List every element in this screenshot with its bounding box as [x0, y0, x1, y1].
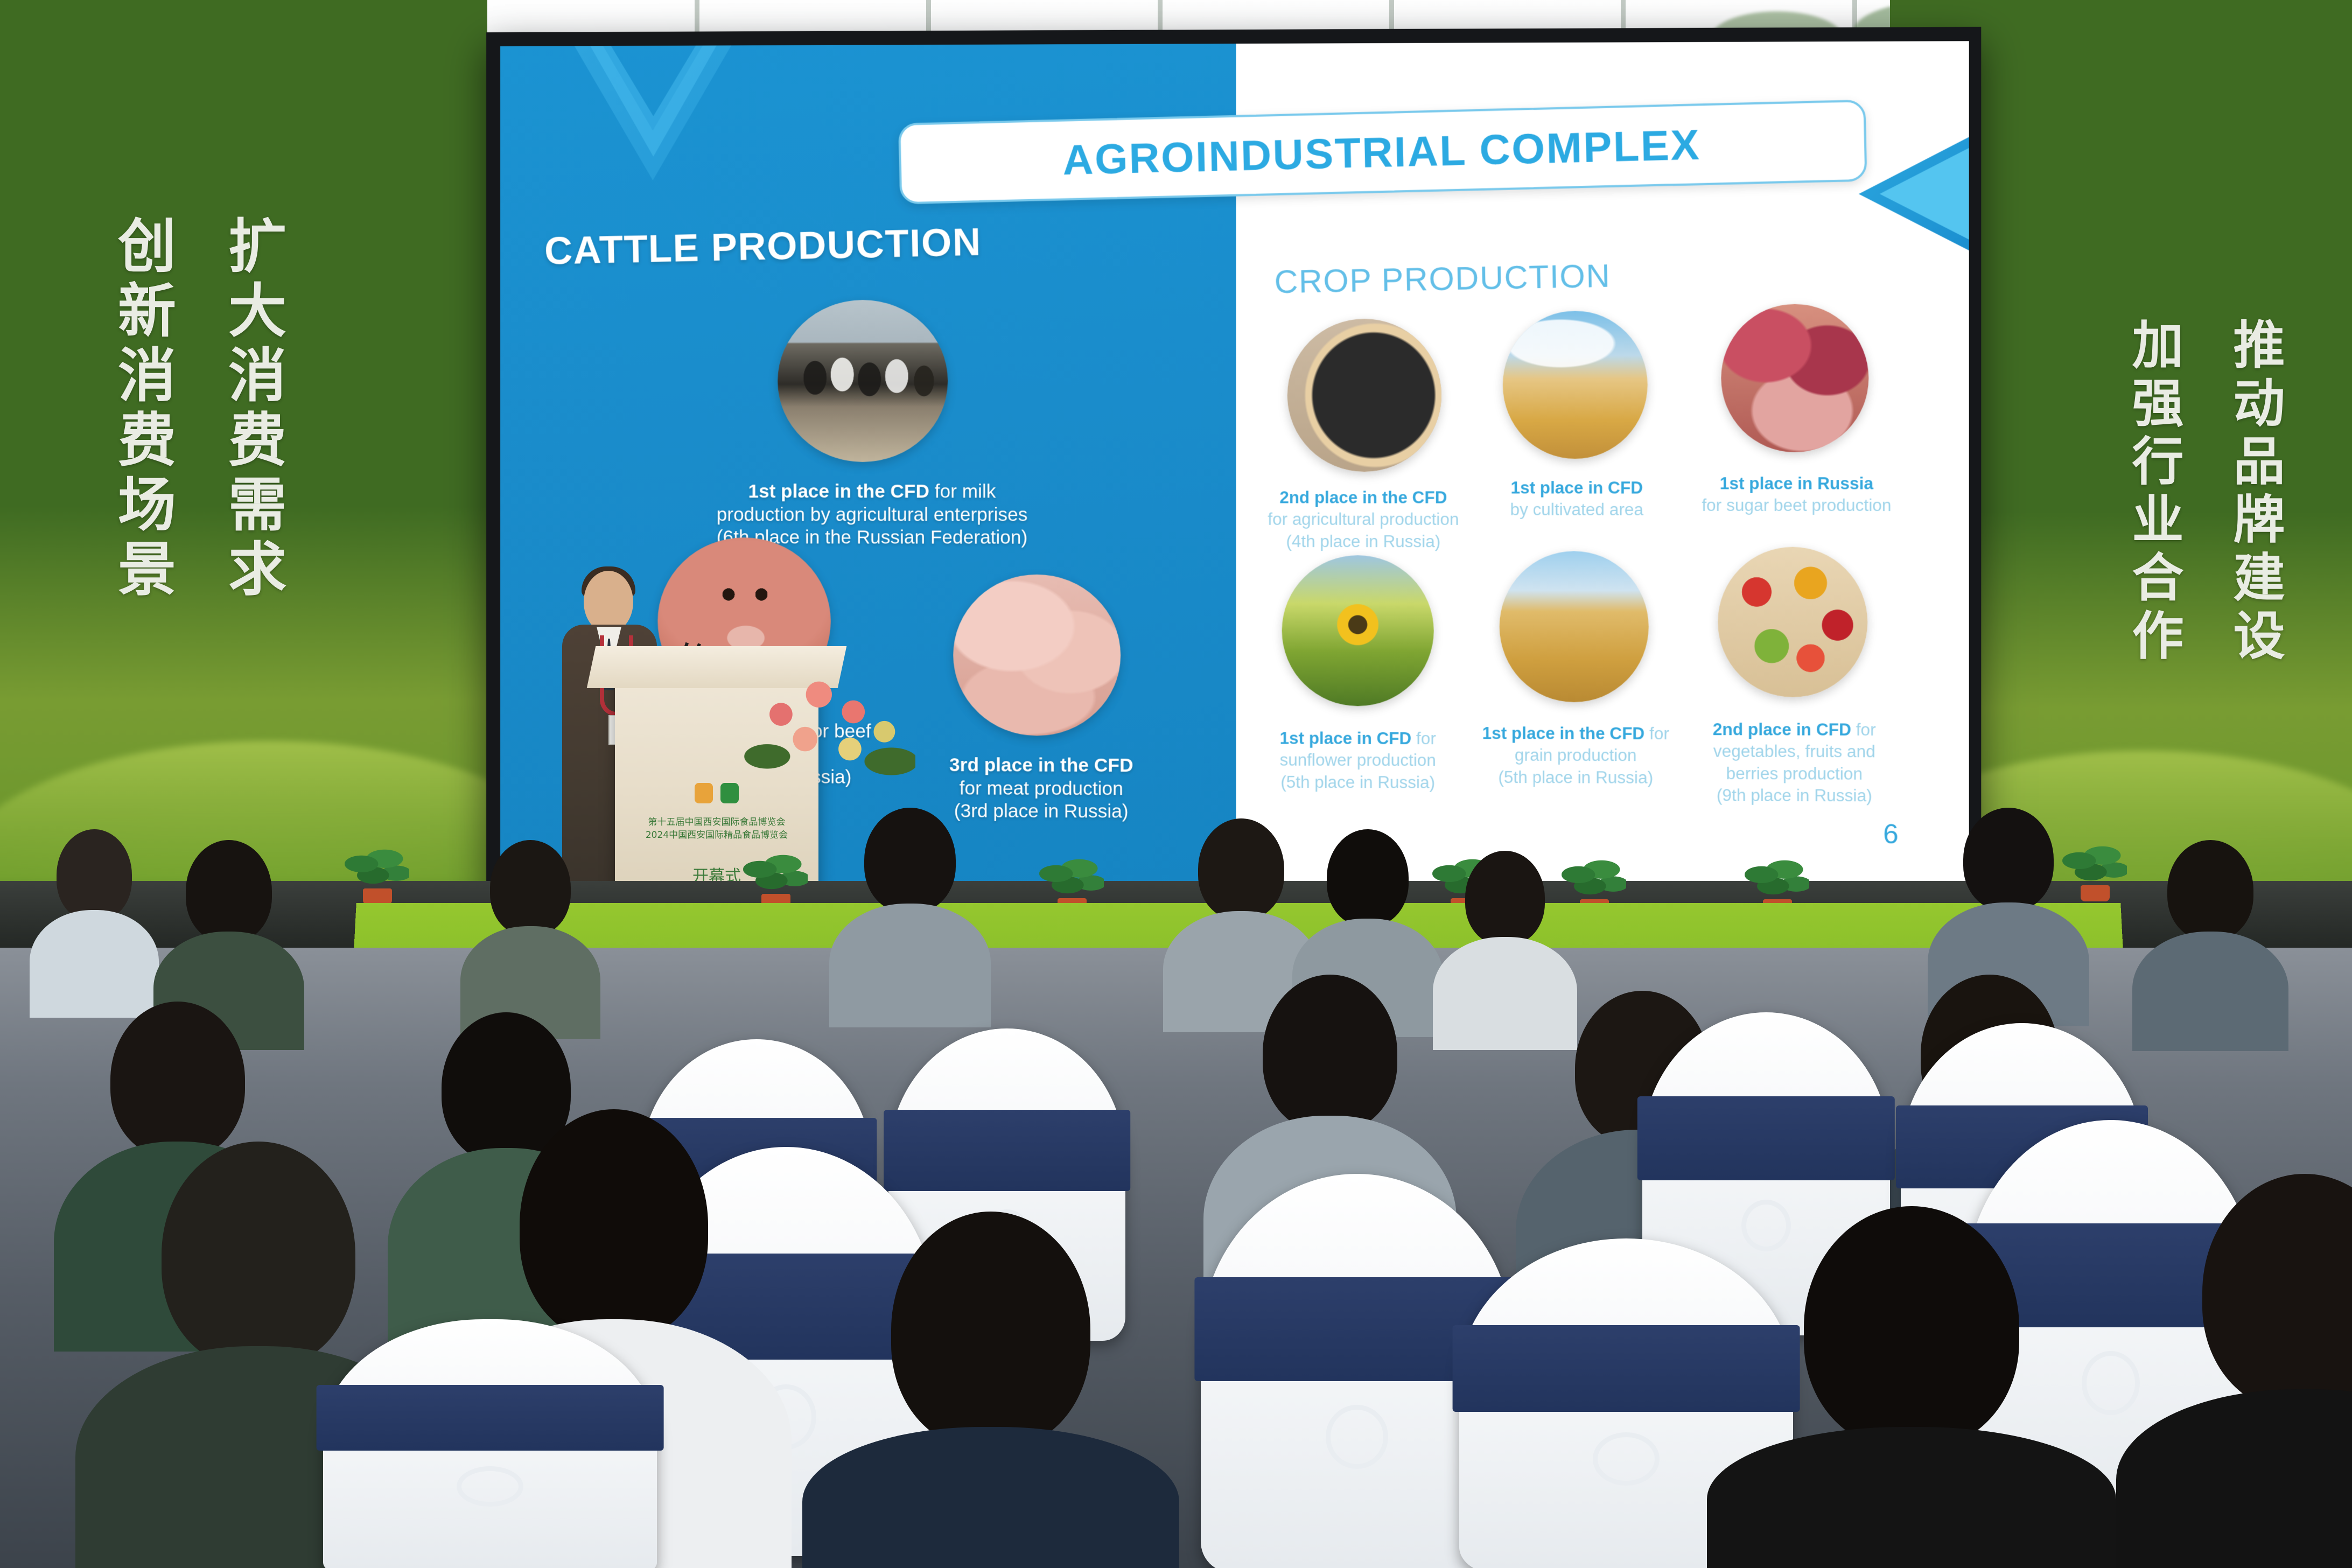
- potted-plant: [1039, 853, 1104, 905]
- audience-member: [2143, 840, 2278, 1045]
- podium-text-line-1: 第十五届中国西安国际食品博览会: [648, 814, 786, 828]
- dairy-cows-photo: [778, 300, 948, 462]
- sunflower-photo: [1282, 555, 1434, 706]
- sunflower-caption-bold: 1st place in CFD: [1280, 729, 1412, 748]
- audience-member-foreground: [2132, 1174, 2352, 1568]
- wheat-field-photo: [1503, 311, 1648, 459]
- milk-caption-line2: production by agricultural enterprises: [671, 503, 1073, 527]
- slide-page-number: 6: [1883, 818, 1898, 850]
- beet-caption-bold: 1st place in Russia: [1720, 474, 1873, 493]
- beet-caption-line2: for sugar beet production: [1663, 495, 1930, 517]
- meat-caption-bold: 3rd place in the CFD: [949, 754, 1133, 776]
- audience-member: [32, 829, 156, 1012]
- fruit-caption-line4: (9th place in Russia): [1665, 785, 1923, 807]
- agri-caption-line3: (4th place in Russia): [1235, 530, 1492, 552]
- audience-member: [840, 808, 980, 1023]
- milk-caption-rest: for milk: [929, 481, 996, 502]
- flower-bouquet: [743, 662, 915, 786]
- potted-plant: [743, 849, 808, 900]
- left-banner-column-1: 创新消费场景: [100, 215, 184, 603]
- sunflower-caption-tail: for: [1411, 729, 1436, 748]
- cattle-production-heading: CATTLE PRODUCTION: [544, 220, 982, 273]
- fruit-caption-tail: for: [1851, 720, 1876, 739]
- fruit-caption-line2: vegetables, fruits and: [1665, 740, 1923, 763]
- chevron-inner-decoration-icon: [581, 41, 726, 174]
- audience-member-foreground: [818, 1212, 1163, 1568]
- crop-production-heading: CROP PRODUCTION: [1274, 257, 1611, 300]
- left-banner-column-2: 扩大消费需求: [210, 215, 294, 603]
- right-banner-column-2: 推动品牌建设: [2217, 318, 2292, 667]
- fruit-caption-line3: berries production: [1665, 762, 1923, 785]
- podium-text-line-2: 2024中国西安国际精品食品博览会: [646, 827, 788, 841]
- milk-caption-bold: 1st place in the CFD: [748, 481, 929, 502]
- conference-hall-photo: 创新消费场景 扩大消费需求 加强行业合作 推动品牌建设 AGROINDUSTRI…: [0, 0, 2352, 1568]
- speaker-head: [584, 571, 633, 633]
- chair: [323, 1319, 657, 1568]
- sugar-beet-caption: 1st place in Russia for sugar beet produ…: [1663, 473, 1930, 517]
- fruits-vegetables-photo: [1718, 547, 1867, 697]
- grain-bowl-photo: [1287, 319, 1441, 472]
- audience-member-foreground: [1723, 1206, 2100, 1568]
- meat-caption-line2: for meat production: [867, 777, 1215, 801]
- audience-member: [468, 840, 592, 1034]
- right-banner-column-1: 加强行业合作: [2116, 318, 2191, 667]
- sugar-beet-photo: [1721, 304, 1868, 452]
- potted-plant: [1745, 854, 1809, 906]
- fruit-caption-bold: 2nd place in CFD: [1713, 720, 1851, 739]
- potted-plant: [1562, 854, 1626, 906]
- potted-plant: [345, 843, 409, 895]
- agri-caption-bold: 2nd place in the CFD: [1279, 488, 1447, 507]
- grain-ears-photo: [1500, 551, 1649, 702]
- meat-photo: [953, 575, 1121, 736]
- cultivated-caption-bold: 1st place in CFD: [1510, 478, 1643, 497]
- vegetables-fruits-caption: 2nd place in CFD for vegetables, fruits …: [1665, 719, 1923, 807]
- podium-logos: [695, 783, 739, 803]
- slide-title: AGROINDUSTRIAL COMPLEX: [1062, 120, 1702, 184]
- grain-caption-bold: 1st place in the CFD: [1482, 724, 1645, 743]
